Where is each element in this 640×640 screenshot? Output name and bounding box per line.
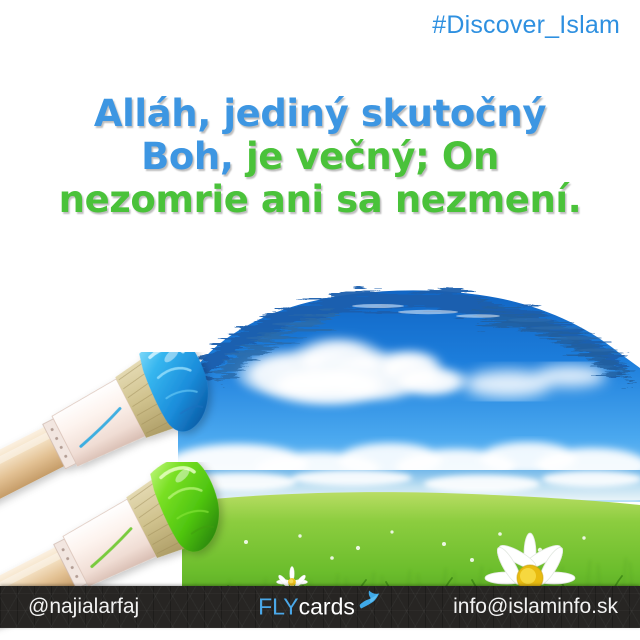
quote-text: Alláh, jediný skutočný Boh, je večný; On… xyxy=(0,93,640,222)
footer-bar: @najialarfaj FLYcards info@islaminfo.sk xyxy=(0,586,640,628)
flycards-logo[interactable]: FLYcards xyxy=(258,594,382,621)
hashtag-label: #Discover_Islam xyxy=(432,11,620,40)
quote-line-3: nezomrie ani sa nezmení. xyxy=(0,179,640,222)
sky-svg xyxy=(178,272,640,502)
contact-email[interactable]: info@islaminfo.sk xyxy=(453,595,618,619)
quote-line-1: Alláh, jediný skutočný xyxy=(0,93,640,136)
bird-icon xyxy=(356,589,382,616)
painted-sky xyxy=(178,272,640,502)
quote-line-2-green-text: je večný; On xyxy=(246,135,499,178)
flycards-quote-card: #Discover_Islam Alláh, jediný skutočný B… xyxy=(0,0,640,640)
quote-line-3-text: nezomrie ani sa nezmení. xyxy=(59,178,582,221)
logo-fly-text: FLY xyxy=(258,594,298,621)
quote-line-2-blue-text: Boh, xyxy=(141,135,233,178)
bottom-fade xyxy=(0,628,640,640)
quote-line-2: Boh, je večný; On xyxy=(0,136,640,179)
quote-line-1-text: Alláh, jediný skutočný xyxy=(94,92,546,135)
logo-cards-text: cards xyxy=(299,594,355,621)
twitter-handle[interactable]: @najialarfaj xyxy=(28,595,139,619)
